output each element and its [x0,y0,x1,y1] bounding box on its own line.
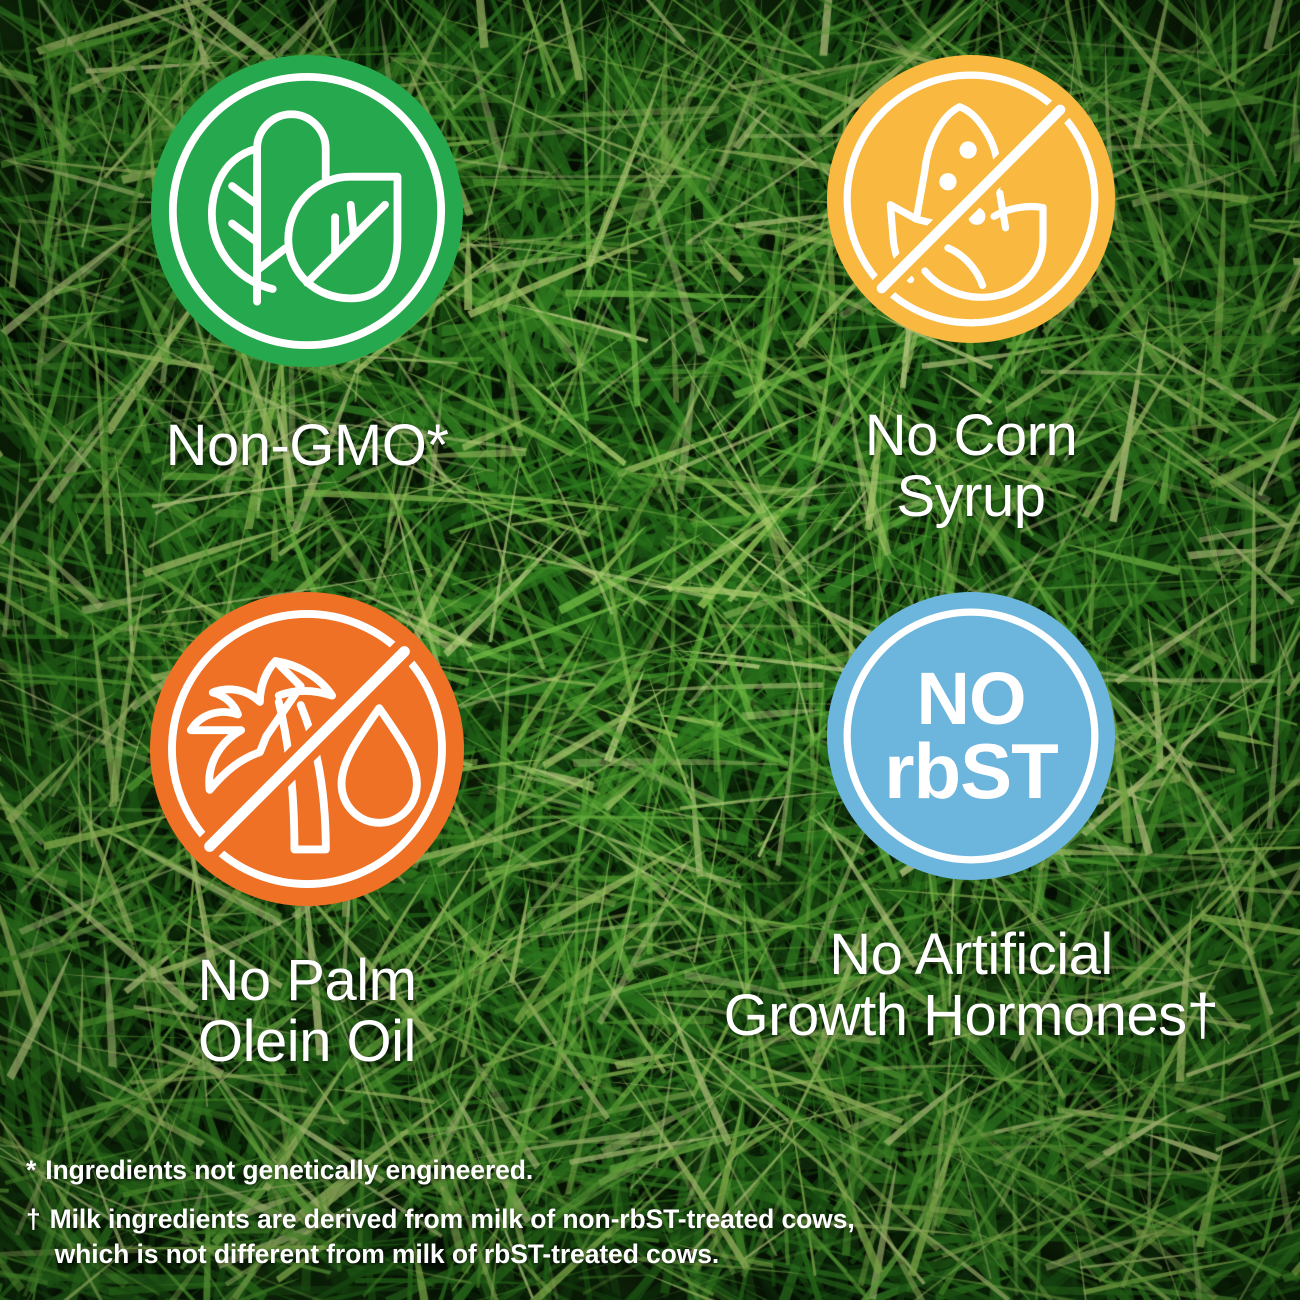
badge-no-corn-syrup[interactable]: No Corn Syrup [646,0,1296,565]
footnote-text-line2: which is not different from milk of rbST… [50,1237,1226,1272]
two-leaves-icon [151,55,463,367]
caption-line: Syrup [896,464,1045,529]
badge-non-gmo[interactable]: Non-GMO* [0,0,632,565]
footnote-mark: † [26,1202,41,1272]
footnote-dagger: † Milk ingredients are derived from milk… [26,1202,1226,1272]
footnote-text: Ingredients not genetically engineered. [45,1153,1226,1188]
footnote-text-line1: Milk ingredients are derived from milk o… [50,1204,855,1234]
claims-badge-grid: Non-GMO* [0,0,1300,1130]
badge-caption: No Corn Syrup [865,405,1077,528]
footnote-text: Milk ingredients are derived from milk o… [50,1202,1226,1272]
caption-line: Growth Hormones† [724,983,1219,1048]
footnotes: * Ingredients not genetically engineered… [26,1153,1226,1272]
caption-line: Olein Oil [198,1009,416,1074]
caption-line: No Artificial [829,922,1113,987]
badge-no-artificial-growth-hormones[interactable]: NO rbST No Artificial Growth Hormones† [646,565,1296,1130]
no-rbst-line1: NO [917,664,1026,734]
no-rbst-label: NO rbST [827,592,1115,880]
footnote-asterisk: * Ingredients not genetically engineered… [26,1153,1226,1188]
badge-caption: No Artificial Growth Hormones† [724,924,1219,1047]
corn-cob-icon [827,55,1115,343]
footnote-mark: * [26,1153,36,1188]
no-rbst-disc: NO rbST [827,592,1115,880]
palm-tree-droplet-icon [150,592,464,906]
badge-caption: No Palm Olein Oil [198,950,417,1073]
caption-line: No Corn [865,403,1077,468]
caption-line: Non-GMO* [166,413,449,478]
no-palm-olein-oil-disc [150,592,464,906]
badge-caption: Non-GMO* [166,415,449,476]
no-rbst-line2: rbST [884,734,1058,808]
no-corn-syrup-disc [827,55,1115,343]
caption-line: No Palm [198,948,417,1013]
non-gmo-disc [151,55,463,367]
badge-no-palm-olein-oil[interactable]: No Palm Olein Oil [0,565,632,1130]
